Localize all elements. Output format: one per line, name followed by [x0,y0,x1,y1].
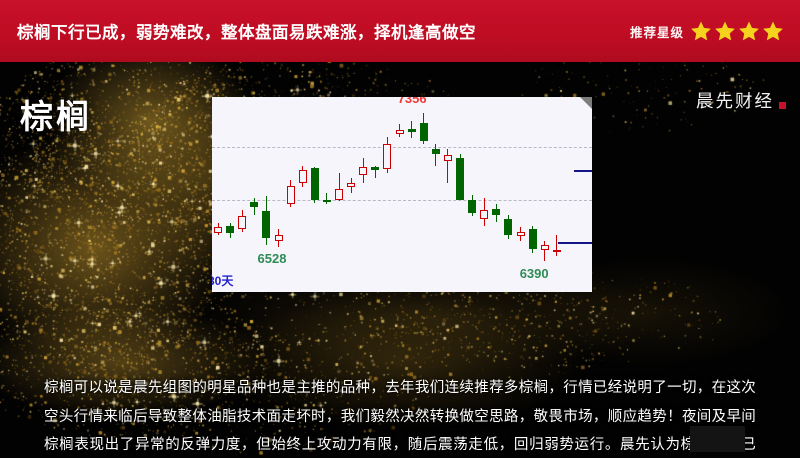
candle-wick [447,149,448,183]
star-rating [690,20,784,42]
star-icon [690,20,712,42]
candle [408,97,416,292]
candle-body [541,245,549,250]
candle [275,97,283,292]
candle [287,97,295,292]
candle-body [408,129,416,132]
brand-dot-icon [779,102,786,109]
candle-body [347,183,355,188]
candle-body [396,130,404,135]
candle-body [529,229,537,249]
chart-ma-line [574,170,592,172]
candle-body [504,219,512,234]
candle [238,97,246,292]
commodity-logo: 棕榈 [20,90,92,138]
candle-body [226,226,234,233]
candle [529,97,537,292]
candle [250,97,258,292]
candle [468,97,476,292]
candle-body [468,200,476,214]
candle [396,97,404,292]
rating-block: 推荐星级 [630,20,784,42]
star-icon [714,20,736,42]
candle-body [311,168,319,199]
footer-watermark [690,426,745,452]
candle-body [517,232,525,237]
candle-wick [556,235,557,256]
candle [214,97,222,292]
candle [359,97,367,292]
candle-body [444,155,452,161]
candle-body [214,227,222,233]
candle-body [553,250,561,252]
brand-logo: 晨先财经 [696,88,786,113]
rating-label: 推荐星级 [630,22,684,41]
candle [311,97,319,292]
chart-ma-line [558,242,592,244]
candle-body [371,167,379,170]
candle-wick [435,144,436,165]
candle-body [432,149,440,154]
candle-body [250,202,258,207]
candle-body [238,216,246,229]
candle-body [287,186,295,204]
candle-body [383,144,391,169]
candle [541,97,549,292]
candle-body [335,189,343,200]
candle-body [456,158,464,199]
candle [480,97,488,292]
candle [383,97,391,292]
candle-body [262,211,270,238]
candle-body [275,235,283,241]
star-icon [738,20,760,42]
candle [371,97,379,292]
candle [420,97,428,292]
candle-body [323,200,331,202]
header-banner: 棕榈下行已成，弱势难改，整体盘面易跌难涨，择机逢高做空 推荐星级 [0,0,800,62]
candle-body [492,209,500,215]
candle [347,97,355,292]
candle [432,97,440,292]
candle-body [480,210,488,219]
candle [456,97,464,292]
brand-name: 晨先财经 [696,88,774,113]
candlestick-chart[interactable]: 7356 6528 6390 30天 [212,97,592,292]
page-title: 棕榈下行已成，弱势难改，整体盘面易跌难涨，择机逢高做空 [17,19,476,43]
candle-body [299,170,307,182]
candle [492,97,500,292]
candle-body [420,123,428,141]
candle [299,97,307,292]
candle [262,97,270,292]
candle-wick [544,241,545,261]
candle [444,97,452,292]
candle [517,97,525,292]
candle [504,97,512,292]
star-icon [762,20,784,42]
candle [553,97,561,292]
candle [323,97,331,292]
chart-corner-fold-icon [580,97,592,109]
candle [335,97,343,292]
candle-body [359,167,367,175]
article-paragraph: 棕榈可以说是晨先组图的明星品种也是主推的品种，去年我们连续推荐多棕榈，行情已经说… [44,374,756,458]
candle [226,97,234,292]
article-body: 棕榈可以说是晨先组图的明星品种也是主推的品种，去年我们连续推荐多棕榈，行情已经说… [44,374,756,458]
